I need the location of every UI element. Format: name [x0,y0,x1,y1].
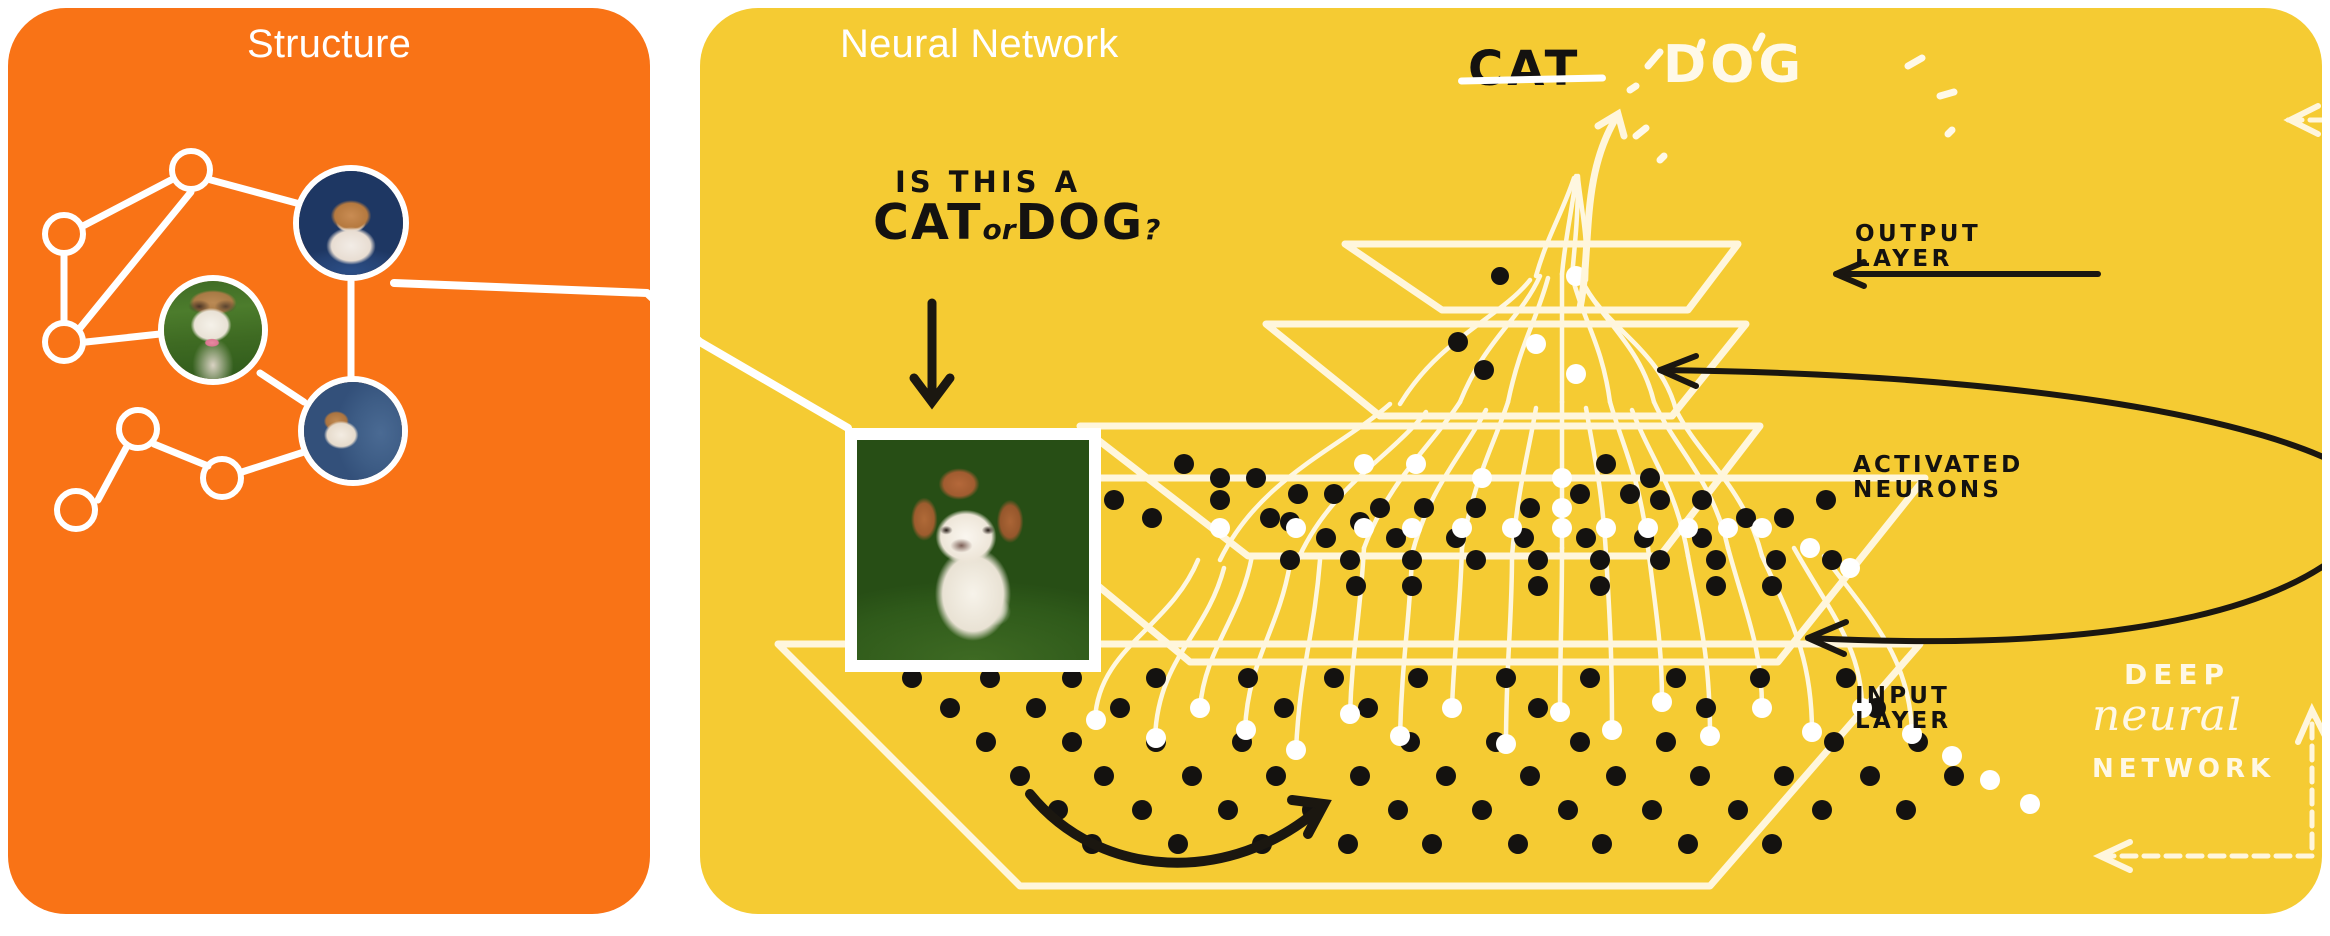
edge-rightb-dogbottom [242,452,304,472]
network-connections [1095,176,1912,750]
bracket-arrow-bottom-icon [2100,842,2130,870]
neural-network-panel-title: Neural Network [840,22,1118,67]
poster-canvas: Structure [0,0,2330,936]
edge-top-dognode [211,180,300,204]
plane-input-layer [778,644,1920,886]
graph-node-mid-b[interactable] [116,407,160,451]
arrow-activated-lower [1808,508,2322,641]
graph-photo-node-bulldog-show[interactable] [293,165,409,281]
wordmark-network: NETWORK [2092,754,2275,784]
bulldog-puppy-held-photo [304,382,402,480]
edge-bottom-midb [98,448,126,500]
question-dog-word: DOG [1016,194,1145,251]
label-activated-neurons: ACTIVATED NEURONS [1853,453,2023,503]
label-input-layer-line1: INPUT [1855,684,1951,709]
graph-node-left[interactable] [42,212,86,256]
label-activated-line2: NEURONS [1853,478,2023,503]
verdict-dog-chosen: DOG [1663,37,1805,93]
question-mark: ? [1144,213,1160,246]
bulldog-grass-photo [164,281,262,379]
puppy-on-grass-photo [857,440,1089,660]
label-output-layer: OUTPUT LAYER [1855,222,1981,272]
question-down-arrow-icon [914,303,950,402]
plane-hidden-1 [968,478,1925,662]
verdict-cat-rejected: CAT [1468,44,1581,96]
graph-photo-node-bulldog-puppy[interactable] [298,376,408,486]
wordmark-deep: DEEP [2124,658,2230,691]
bracket-arrow-up-icon [2298,710,2322,742]
bulldog-show-photo [299,171,403,275]
output-to-dog-arrow-icon [1580,114,1624,308]
graph-node-right-b[interactable] [200,456,244,500]
label-activated-line1: ACTIVATED [1853,453,2023,478]
graph-node-top[interactable] [169,148,213,192]
deep-network-bracket [2100,120,2322,856]
structure-panel: Structure [8,8,650,914]
label-output-layer-line1: OUTPUT [1855,222,1981,247]
graph-node-lower[interactable] [42,320,86,364]
wordmark-neural: neural [2092,690,2242,741]
plane-hidden-3 [1266,324,1746,416]
label-input-layer-line2: LAYER [1855,709,1951,734]
graph-photo-node-bulldog-grass[interactable] [158,275,268,385]
label-output-layer-line2: LAYER [1855,247,1981,272]
question-or-word: or [983,213,1016,246]
neural-network-panel: Neural Network [700,8,2322,914]
plane-hidden-2 [1080,426,1760,556]
input-photo-puppy[interactable] [845,428,1101,672]
structure-panel-title: Structure [8,22,650,67]
edge-midb-rightb [154,444,208,466]
plane-output-layer [1345,244,1738,310]
question-cat-word: CAT [873,194,983,251]
photo-to-network-arrow-icon [1030,794,1324,863]
question-line-2: CATorDOG? [873,197,1160,250]
bracket-arrow-top-icon [2290,106,2318,134]
edge-left-top [83,180,171,226]
label-input-layer: INPUT LAYER [1855,684,1951,734]
edge-lower-dogmid [86,334,160,342]
graph-node-bottom[interactable] [54,488,98,532]
edge-dogmid-dogbottom [260,373,304,402]
